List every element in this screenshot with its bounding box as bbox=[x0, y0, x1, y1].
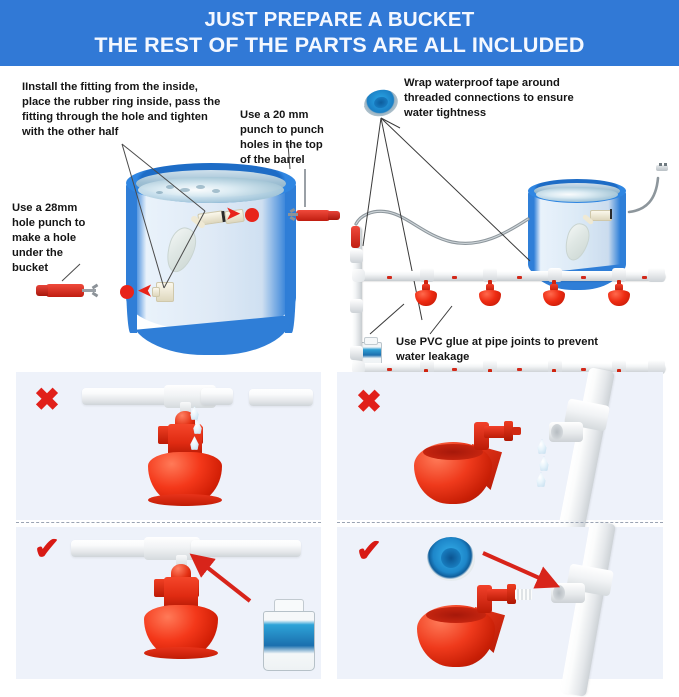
pipe-cuff bbox=[350, 299, 363, 313]
header-banner: JUST PREPARE A BUCKET THE REST OF THE PA… bbox=[0, 0, 679, 66]
pipe-marker bbox=[387, 368, 392, 371]
cross-icon: ✖ bbox=[356, 386, 382, 417]
check-icon: ✔ bbox=[356, 535, 382, 566]
pipe-cuff bbox=[350, 249, 363, 263]
cup-taped-thread bbox=[515, 589, 532, 600]
panel-right-vertical: ✔ bbox=[16, 527, 321, 679]
pointer-arrow bbox=[184, 549, 264, 609]
comparison-panels: ✖ ✖ bbox=[0, 372, 679, 679]
pipe-cuff bbox=[350, 346, 363, 360]
pipe-marker bbox=[642, 276, 647, 279]
pipe-marker bbox=[517, 368, 522, 371]
drinker-cup-assembly bbox=[412, 416, 547, 512]
cup-thread-tip bbox=[512, 427, 521, 435]
tape-roll-hole bbox=[441, 548, 461, 568]
pipe-end-cap bbox=[648, 268, 665, 282]
panel-divider-right bbox=[337, 522, 663, 523]
banner-line-2: THE REST OF THE PARTS ARE ALL INCLUDED bbox=[94, 32, 584, 59]
panel-right-side: ✔ bbox=[337, 527, 663, 679]
pvc-glue-can bbox=[261, 597, 317, 671]
pipe-marker bbox=[581, 368, 586, 371]
supply-tube-highlight bbox=[356, 211, 528, 243]
pipe-marker bbox=[581, 276, 586, 279]
pvc-pipe-diagonal bbox=[557, 367, 615, 539]
pipe-marker bbox=[452, 276, 457, 279]
banner-line-1: JUST PREPARE A BUCKET bbox=[205, 7, 475, 32]
pvc-pipe-detached bbox=[249, 389, 313, 406]
cross-icon: ✖ bbox=[34, 384, 60, 415]
check-icon: ✔ bbox=[34, 533, 60, 564]
riser-valve bbox=[351, 226, 360, 248]
pipe-marker bbox=[517, 276, 522, 279]
instruction-infographic: JUST PREPARE A BUCKET THE REST OF THE PA… bbox=[0, 0, 679, 679]
piping-overlay bbox=[0, 66, 679, 369]
panel-divider-left bbox=[16, 522, 321, 523]
glue-can-body bbox=[263, 611, 315, 671]
cup-bowl-base bbox=[148, 494, 222, 506]
panel-wrong-side: ✖ bbox=[337, 372, 663, 520]
pvc-pipe-diagonal bbox=[560, 520, 616, 697]
pipe-elbow-1 bbox=[352, 269, 365, 282]
inlet-tube bbox=[629, 178, 658, 212]
drinker-cup-assembly bbox=[415, 577, 555, 675]
pipe-marker bbox=[452, 368, 457, 371]
top-instruction-area: IInstall the fitting from the inside, pl… bbox=[0, 66, 679, 369]
pipe-tee-bore bbox=[551, 424, 563, 440]
cup-bowl-base bbox=[144, 647, 218, 659]
pipe-marker bbox=[387, 276, 392, 279]
panel-wrong-vertical: ✖ bbox=[16, 372, 321, 520]
